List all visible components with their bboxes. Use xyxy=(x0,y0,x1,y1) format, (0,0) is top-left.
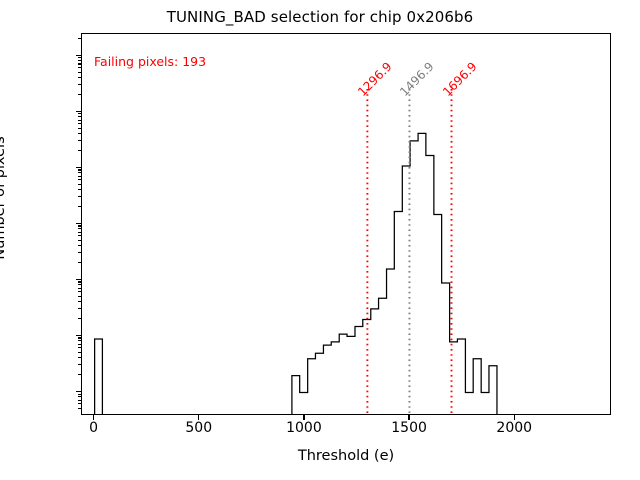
x-major-tick xyxy=(198,415,199,420)
x-tick-label-0: 0 xyxy=(89,420,98,436)
y-major-tick xyxy=(76,391,81,392)
x-major-tick xyxy=(93,415,94,420)
y-minor-tick xyxy=(78,67,81,68)
y-minor-tick xyxy=(78,337,81,338)
y-major-tick xyxy=(76,279,81,280)
y-minor-tick xyxy=(78,94,81,95)
y-minor-tick xyxy=(78,396,81,397)
y-major-tick xyxy=(76,335,81,336)
y-minor-tick xyxy=(78,245,81,246)
y-minor-tick xyxy=(78,296,81,297)
figure-canvas: TUNING_BAD selection for chip 0x206b6 Nu… xyxy=(0,0,640,480)
y-major-tick xyxy=(76,55,81,56)
plot-area: Failing pixels: 193 xyxy=(81,33,611,415)
y-minor-tick xyxy=(78,179,81,180)
y-minor-tick xyxy=(78,281,81,282)
chart-title: TUNING_BAD selection for chip 0x206b6 xyxy=(0,8,640,26)
y-minor-tick xyxy=(78,196,81,197)
y-minor-tick xyxy=(78,408,81,409)
y-minor-tick xyxy=(78,240,81,241)
y-minor-tick xyxy=(78,38,81,39)
failing-pixels-annotation: Failing pixels: 193 xyxy=(94,54,206,69)
y-minor-tick xyxy=(78,340,81,341)
y-minor-tick xyxy=(78,113,81,114)
y-minor-tick xyxy=(78,308,81,309)
y-minor-tick xyxy=(78,172,81,173)
y-minor-tick xyxy=(78,120,81,121)
x-tick-label-2000: 2000 xyxy=(496,420,532,436)
y-minor-tick xyxy=(78,374,81,375)
y-minor-tick xyxy=(78,347,81,348)
x-axis-label: Threshold (e) xyxy=(81,448,611,464)
x-tick-label-1500: 1500 xyxy=(391,420,427,436)
y-minor-tick xyxy=(78,403,81,404)
y-minor-tick xyxy=(78,344,81,345)
y-minor-tick xyxy=(78,262,81,263)
y-minor-tick xyxy=(78,352,81,353)
y-minor-tick xyxy=(78,235,81,236)
y-minor-tick xyxy=(78,364,81,365)
x-major-tick xyxy=(514,415,515,420)
y-minor-tick xyxy=(78,357,81,358)
y-minor-tick xyxy=(78,84,81,85)
y-major-tick xyxy=(76,111,81,112)
threshold-vlines xyxy=(82,34,611,415)
y-minor-tick xyxy=(78,128,81,129)
y-minor-tick xyxy=(78,232,81,233)
y-minor-tick xyxy=(78,77,81,78)
y-minor-tick xyxy=(78,291,81,292)
y-minor-tick xyxy=(78,60,81,61)
y-major-tick xyxy=(76,223,81,224)
y-minor-tick xyxy=(78,394,81,395)
y-minor-tick xyxy=(78,123,81,124)
y-minor-tick xyxy=(78,189,81,190)
y-minor-tick xyxy=(78,284,81,285)
x-tick-label-500: 500 xyxy=(185,420,212,436)
y-minor-tick xyxy=(78,206,81,207)
y-axis-label: Number of pixels xyxy=(0,38,8,358)
x-tick-label-1000: 1000 xyxy=(286,420,322,436)
y-minor-tick xyxy=(78,169,81,170)
y-minor-tick xyxy=(78,63,81,64)
x-major-tick xyxy=(408,415,409,420)
x-major-tick xyxy=(303,415,304,420)
y-minor-tick xyxy=(78,184,81,185)
y-minor-tick xyxy=(78,133,81,134)
y-minor-tick xyxy=(78,318,81,319)
y-minor-tick xyxy=(78,400,81,401)
plot-inner xyxy=(82,34,610,414)
y-minor-tick xyxy=(78,150,81,151)
y-minor-tick xyxy=(78,228,81,229)
y-minor-tick xyxy=(78,72,81,73)
y-minor-tick xyxy=(78,176,81,177)
y-minor-tick xyxy=(78,225,81,226)
y-minor-tick xyxy=(78,288,81,289)
y-major-tick xyxy=(76,167,81,168)
y-minor-tick xyxy=(78,301,81,302)
y-minor-tick xyxy=(78,252,81,253)
y-minor-tick xyxy=(78,140,81,141)
y-minor-tick xyxy=(78,116,81,117)
y-minor-tick xyxy=(78,57,81,58)
